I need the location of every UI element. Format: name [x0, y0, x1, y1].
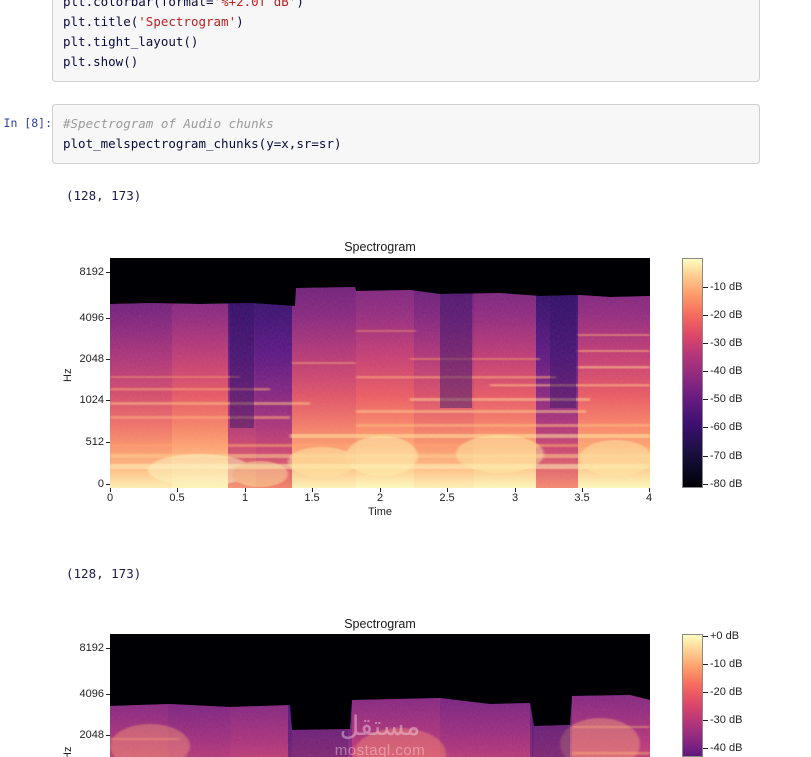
figure-2-cbar-tick [703, 692, 708, 693]
figure-1-ytick: 8192 [62, 266, 104, 278]
figure-1-ytick-mark [106, 272, 110, 273]
cell-prompt-in8: In [8]: [0, 104, 52, 130]
figure-2-plot-area: مستقل mostaql.com [110, 634, 650, 757]
spectrogram-image-2 [110, 634, 650, 757]
figure-2-cbar-label: -30 dB [710, 714, 742, 726]
figure-1-ytick-mark [106, 400, 110, 401]
figure-1-cbar-label: -20 dB [710, 309, 742, 321]
figure-2-ylabel: Hz [62, 747, 74, 757]
figure-1-ytick: 1024 [62, 394, 104, 406]
figure-1-cbar-label: -30 dB [710, 337, 742, 349]
code-line: plt.show() [63, 52, 747, 72]
figure-2-ytick-mark [106, 735, 110, 736]
figure-1-cbar-tick [703, 371, 708, 372]
figure-2-ytick: 8192 [62, 642, 104, 654]
spectrogram-image-1 [110, 258, 650, 488]
code-line: plot_melspectrogram_chunks(y=x,sr=sr) [63, 134, 747, 154]
figure-2-colorbar [682, 634, 703, 757]
figure-spectrogram-1: Spectrogram [0, 230, 811, 530]
figure-2-cbar-label: -20 dB [710, 686, 742, 698]
code-line: plt.title('Spectrogram') [63, 12, 747, 32]
code-line-comment: #Spectrogram of Audio chunks [63, 114, 747, 134]
figure-1-cbar-label: -80 dB [710, 478, 742, 490]
figure-1-xtick: 0.5 [159, 492, 195, 504]
figure-1-cbar-label: -40 dB [710, 365, 742, 377]
figure-1-cbar-tick [703, 399, 708, 400]
figure-2-ytick: 4096 [62, 688, 104, 700]
figure-1-xlabel: Time [110, 506, 650, 518]
figure-1-cbar-label: -50 dB [710, 393, 742, 405]
figure-2-cbar-tick [703, 720, 708, 721]
figure-2-ytick: 2048 [62, 729, 104, 741]
figure-1-cbar-tick [703, 484, 708, 485]
figure-2-cbar-label: -40 dB [710, 742, 742, 754]
figure-1-cbar-tick [703, 315, 708, 316]
figure-1-plot-area [110, 258, 650, 488]
code-line: plt.colorbar(format='%+2.0f dB') [63, 0, 747, 12]
code-cell-top[interactable]: plt.colorbar(format='%+2.0f dB') plt.tit… [0, 0, 811, 82]
figure-2-cbar-tick [703, 636, 708, 637]
output-shape-1: (128, 173) [66, 188, 141, 203]
figure-1-cbar-tick [703, 427, 708, 428]
figure-1-title: Spectrogram [110, 240, 650, 254]
figure-1-xtick: 0 [92, 492, 128, 504]
figure-2-ytick-mark [106, 648, 110, 649]
figure-1-ytick-mark [106, 359, 110, 360]
output-shape-2: (128, 173) [66, 566, 141, 581]
figure-1-xtick: 3.5 [564, 492, 600, 504]
figure-2-title: Spectrogram [110, 617, 650, 631]
code-line: plt.tight_layout() [63, 32, 747, 52]
figure-1-cbar-label: -60 dB [710, 421, 742, 433]
figure-1-ytick: 4096 [62, 312, 104, 324]
code-cell-in8[interactable]: In [8]: #Spectrogram of Audio chunks plo… [0, 104, 811, 164]
figure-1-ytick-mark [106, 442, 110, 443]
figure-2-ytick-mark [106, 694, 110, 695]
figure-2-cbar-tick [703, 748, 708, 749]
figure-1-cbar-label: -70 dB [710, 450, 742, 462]
figure-1-cbar-tick [703, 287, 708, 288]
figure-1-cbar-tick [703, 456, 708, 457]
figure-1-xtick: 2 [362, 492, 398, 504]
figure-1-ylabel: Hz [62, 369, 74, 382]
figure-1-cbar-label: -10 dB [710, 281, 742, 293]
code-editor-top[interactable]: plt.colorbar(format='%+2.0f dB') plt.tit… [52, 0, 760, 82]
figure-2-cbar-label: +0 dB [710, 630, 739, 642]
figure-1-xtick: 4 [631, 492, 667, 504]
figure-1-colorbar [682, 258, 703, 488]
figure-1-xtick: 1 [227, 492, 263, 504]
notebook-page: plt.colorbar(format='%+2.0f dB') plt.tit… [0, 0, 811, 757]
figure-1-xtick: 3 [497, 492, 533, 504]
figure-1-ytick: 0 [62, 478, 104, 490]
figure-1-ytick: 2048 [62, 353, 104, 365]
code-editor-in8[interactable]: #Spectrogram of Audio chunks plot_melspe… [52, 104, 760, 164]
figure-1-xtick: 1.5 [294, 492, 330, 504]
figure-1-ytick-mark [106, 318, 110, 319]
figure-2-cbar-label: -10 dB [710, 658, 742, 670]
figure-spectrogram-2: Spectrogram [0, 608, 811, 757]
figure-1-ytick-mark [106, 484, 110, 485]
figure-1-ytick: 512 [62, 436, 104, 448]
figure-2-cbar-tick [703, 664, 708, 665]
figure-1-xtick: 2.5 [429, 492, 465, 504]
figure-1-cbar-tick [703, 343, 708, 344]
